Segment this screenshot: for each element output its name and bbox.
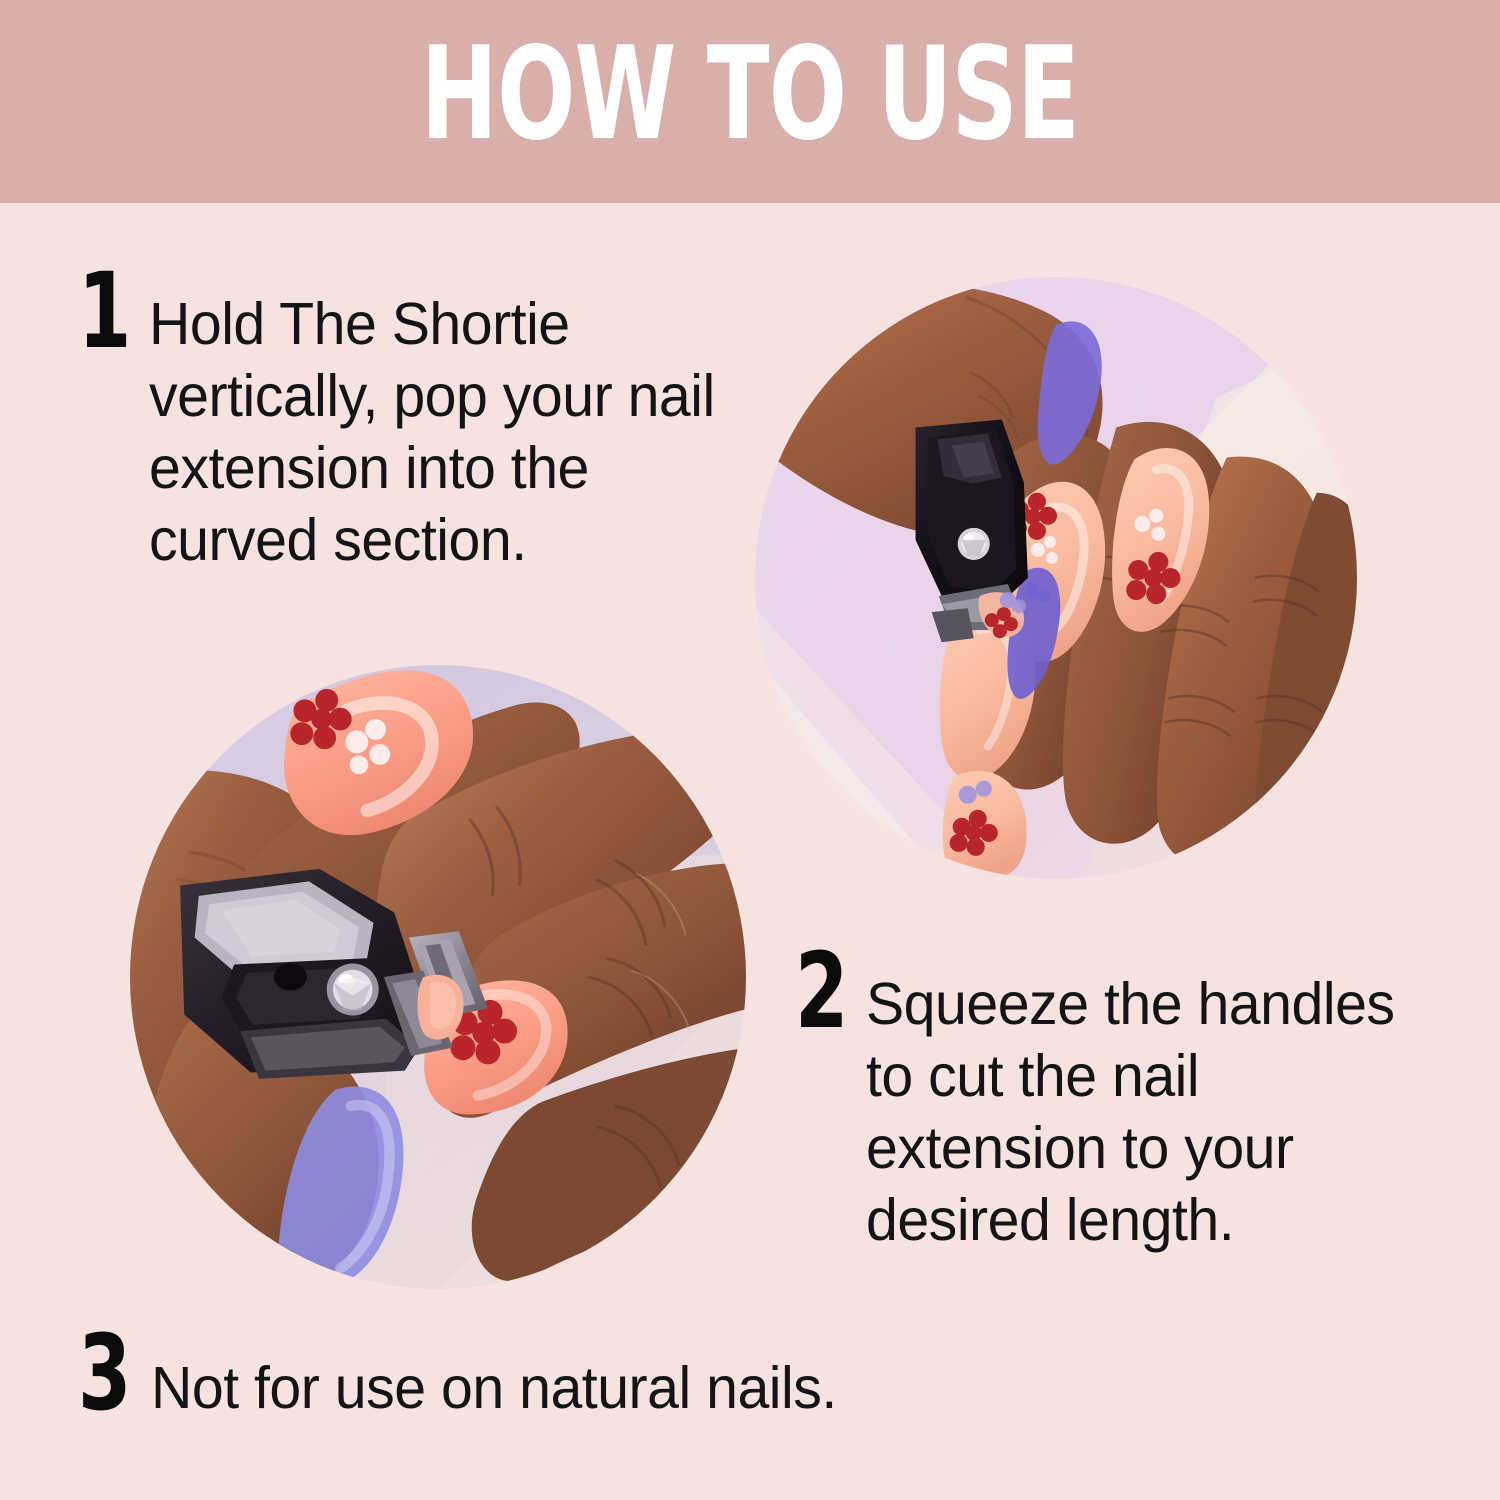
step-1-number: 1 bbox=[78, 268, 131, 354]
step-1: 1 Hold The Shortie vertically, pop your … bbox=[78, 268, 758, 576]
step-2: 2 Squeeze the handles to cut the nail ex… bbox=[795, 948, 1465, 1256]
how-to-use-infographic: HOW TO USE bbox=[0, 0, 1500, 1500]
photo-step-2-image bbox=[130, 665, 746, 1289]
step-3-text: Not for use on natural nails. bbox=[151, 1330, 837, 1424]
step-1-text: Hold The Shortie vertically, pop your na… bbox=[149, 268, 740, 576]
step-2-number: 2 bbox=[795, 948, 848, 1034]
photo-step-2 bbox=[130, 665, 746, 1289]
photo-step-1 bbox=[755, 277, 1357, 879]
header-band: HOW TO USE bbox=[0, 0, 1500, 203]
step-3: 3 Not for use on natural nails. bbox=[78, 1330, 1078, 1424]
page-title: HOW TO USE bbox=[150, 40, 1350, 150]
step-3-number: 3 bbox=[78, 1330, 131, 1416]
photo-step-1-image bbox=[755, 277, 1357, 879]
step-2-text: Squeeze the handles to cut the nail exte… bbox=[866, 948, 1447, 1256]
